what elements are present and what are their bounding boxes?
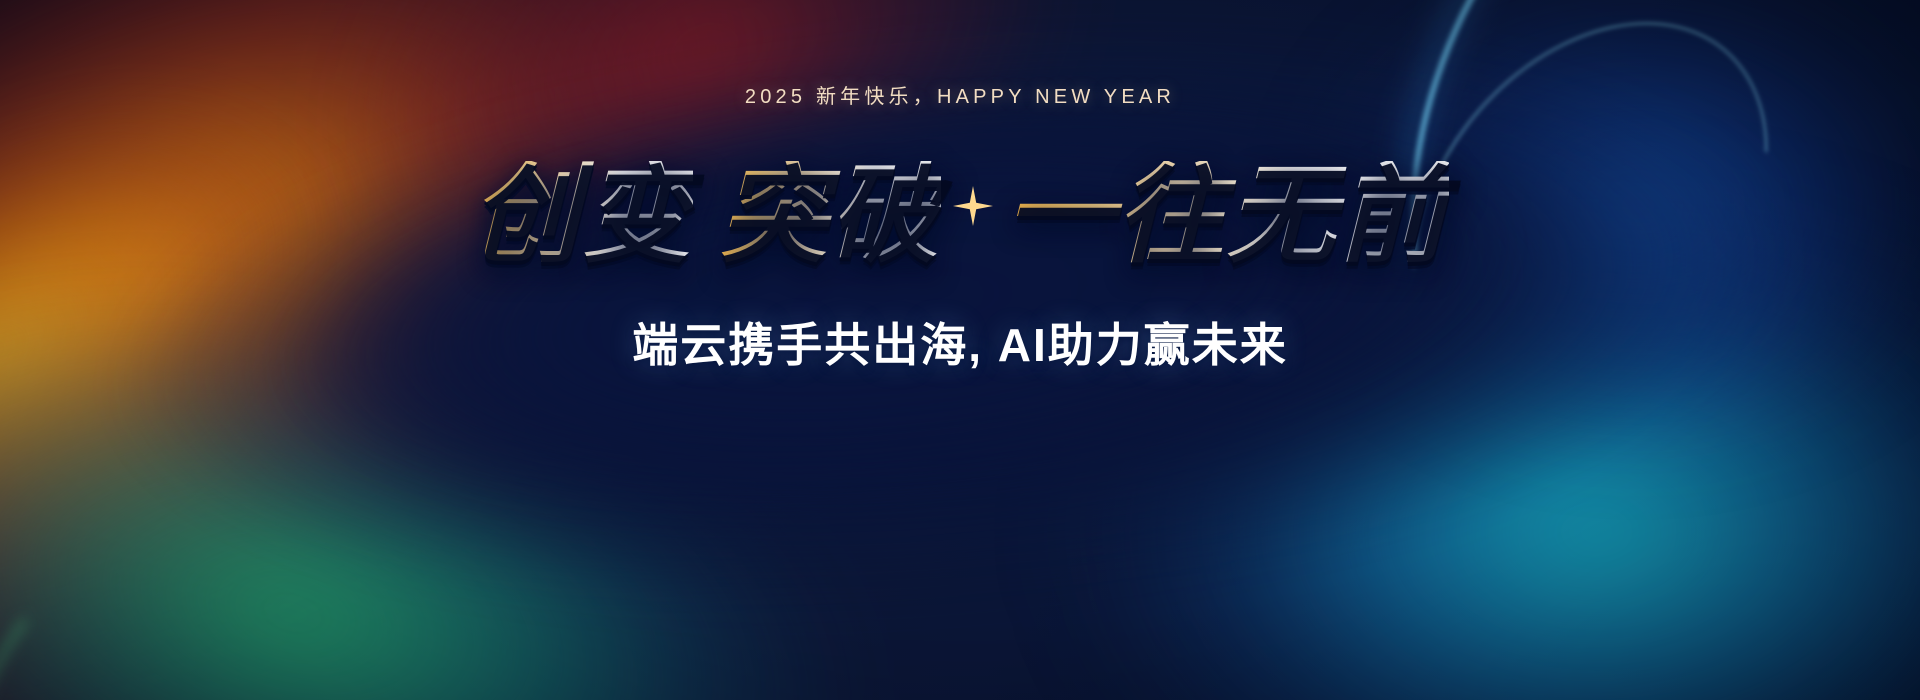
sparkle-gold-icon — [953, 186, 993, 226]
new-year-banner: 2025 新年快乐，HAPPY NEW YEAR 创变 突破 一往无前 端云携手… — [0, 0, 1920, 700]
headline: 创变 突破 一往无前 — [471, 161, 1449, 269]
headline-segment-1: 创变 — [471, 161, 693, 269]
banner-content: 2025 新年快乐，HAPPY NEW YEAR 创变 突破 一往无前 端云携手… — [0, 0, 1920, 700]
eyebrow-text: 2025 新年快乐，HAPPY NEW YEAR — [745, 80, 1175, 109]
headline-segment-3: 一往无前 — [1005, 161, 1449, 269]
headline-segment-2: 突破 — [719, 161, 941, 269]
subtitle-text: 端云携手共出海, AI助力赢未来 — [632, 309, 1288, 375]
